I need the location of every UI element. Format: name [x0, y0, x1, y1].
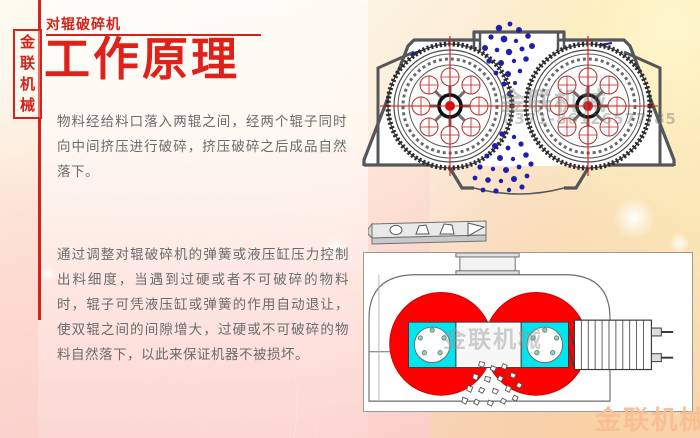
paragraph-working-principle: 物料经给料口落入两辊之间，经两个辊子同时向中间挤压进行破碎，挤压破碎之后成品自然… [57, 110, 347, 185]
brand-logo-char-3: 机 [20, 77, 35, 92]
paragraph-pressure-control: 通过调整对辊破碎机的弹簧或液压缸压力控制出料细度，当遇到过硬或者不可破碎的物料时… [57, 243, 349, 368]
brand-logo-badge: 金 联 机 械 [13, 29, 42, 119]
brand-logo-char-4: 械 [20, 98, 35, 113]
figure-crusher-side-view [363, 252, 693, 412]
brand-logo-char-1: 金 [20, 35, 35, 50]
brand-logo-char-2: 联 [20, 56, 35, 71]
page-title: 工作原理 [44, 36, 240, 82]
figure-feed-chute [368, 218, 498, 252]
figure-crusher-cross-section [356, 6, 696, 206]
section-kicker: 对辊破碎机 [46, 14, 121, 34]
poster-canvas: 金 联 机 械 对辊破碎机 工作原理 物料经给料口落入两辊之间，经两个辊子同时向… [0, 0, 700, 438]
